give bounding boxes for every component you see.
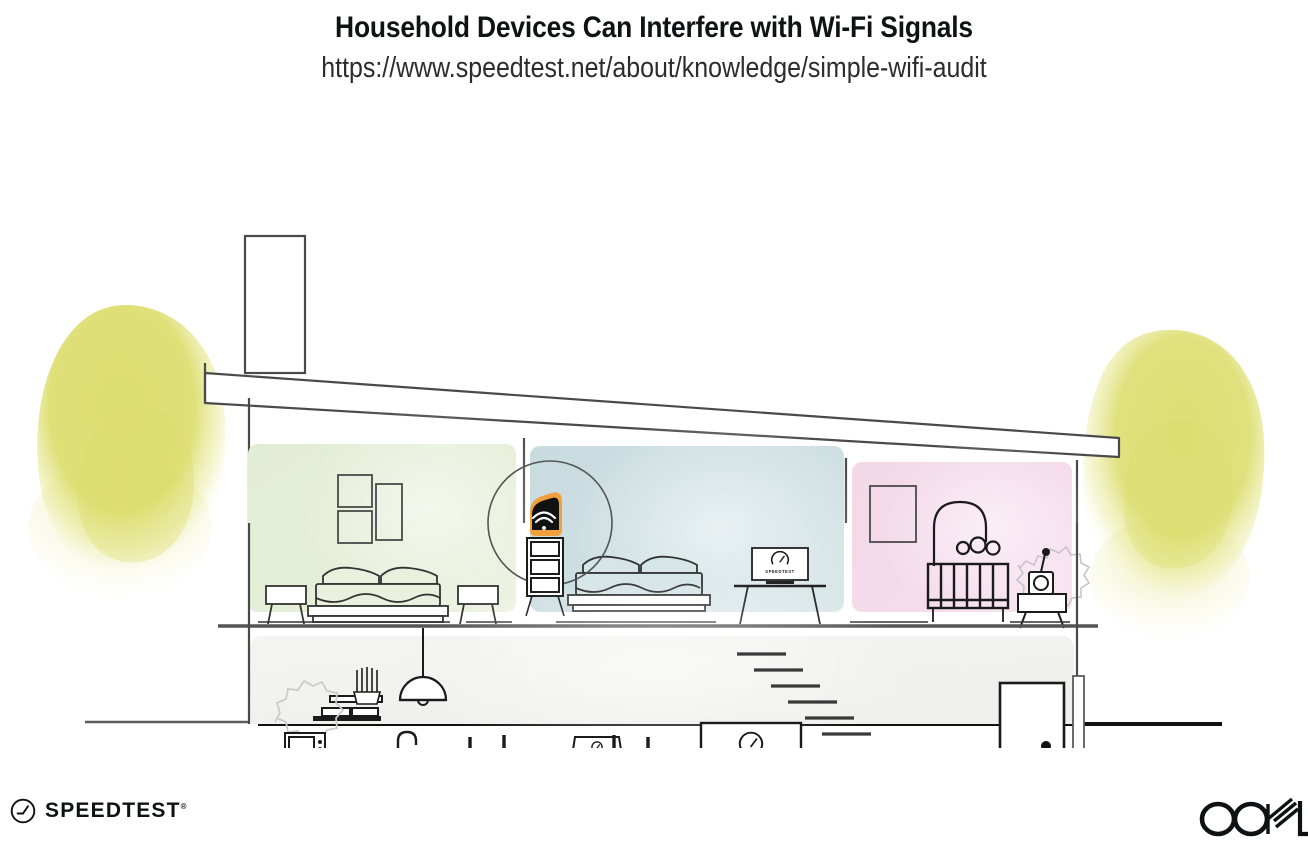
living-room-tv-screen <box>701 723 801 748</box>
bed-green-room <box>308 568 448 622</box>
house-illustration-svg: SPEEDTEST <box>0 108 1308 748</box>
speedometer-gauge-icon <box>10 798 36 824</box>
source-url: https://www.speedtest.net/about/knowledg… <box>92 52 1217 85</box>
faucet-icon <box>398 732 416 748</box>
infographic-canvas: Household Devices Can Interfere with Wi-… <box>0 0 1308 861</box>
room-nursery-pink <box>852 433 1100 628</box>
ookla-logo <box>1196 795 1308 839</box>
front-door[interactable] <box>1000 683 1064 748</box>
house-illustration: SPEEDTEST <box>0 108 1308 748</box>
left-tree <box>28 305 226 598</box>
chimney <box>245 236 305 373</box>
speedtest-logo: SPEEDTEST® <box>10 798 187 824</box>
page-title: Household Devices Can Interfere with Wi-… <box>78 10 1229 46</box>
header: Household Devices Can Interfere with Wi-… <box>0 0 1308 85</box>
bedroom-monitor-label: SPEEDTEST <box>765 569 794 574</box>
window <box>1073 676 1084 748</box>
nursery-nightstand <box>1018 594 1066 628</box>
speedtest-wordmark: SPEEDTEST® <box>45 799 187 823</box>
trademark-symbol: ® <box>181 802 187 811</box>
bedroom-monitor-screen <box>752 548 808 580</box>
room-bedroom-green <box>248 398 560 624</box>
dining-laptop[interactable]: SPEEDTEST <box>566 737 628 748</box>
ookla-logo-icon <box>1196 795 1308 839</box>
right-tree <box>1083 330 1265 640</box>
microwave-icon <box>285 733 325 748</box>
